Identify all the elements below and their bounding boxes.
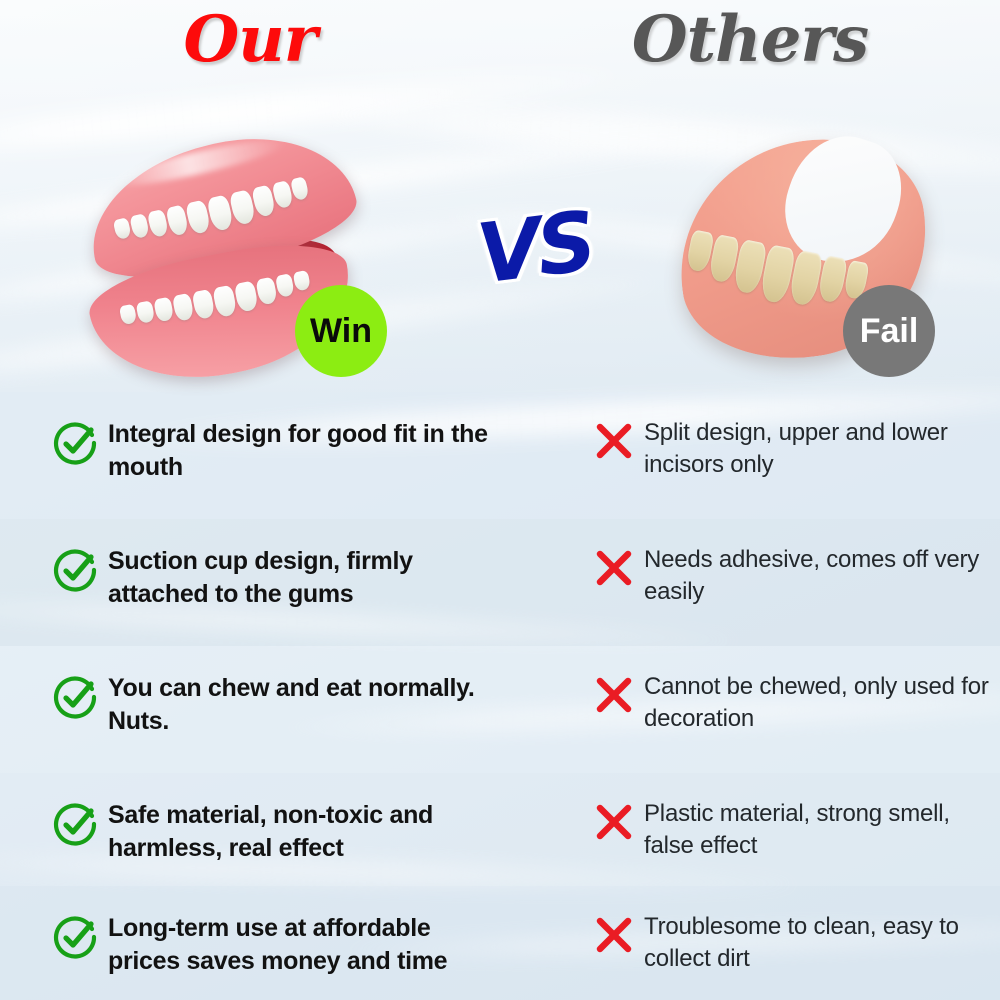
comparison-row: Integral design for good fit in the mout…	[0, 392, 1000, 519]
comparison-row: Safe material, non-toxic and harmless, r…	[0, 773, 1000, 886]
green-check-circle-icon	[52, 674, 98, 720]
green-check-circle-icon	[52, 420, 98, 466]
badge-fail: Fail	[843, 285, 935, 377]
badge-win: Win	[295, 285, 387, 377]
comparison-row: Suction cup design, firmly attached to t…	[0, 519, 1000, 646]
cell-ours: Safe material, non-toxic and harmless, r…	[0, 773, 500, 886]
feature-text-ours: Safe material, non-toxic and harmless, r…	[108, 799, 498, 864]
cell-others: Needs adhesive, comes off very easily	[500, 519, 1000, 646]
feature-text-others: Cannot be chewed, only used for decorati…	[644, 671, 1000, 734]
cell-others: Troublesome to clean, easy to collect di…	[500, 886, 1000, 1000]
cell-others: Split design, upper and lower incisors o…	[500, 392, 1000, 519]
green-check-circle-icon	[52, 547, 98, 593]
feature-text-ours: Long-term use at affordable prices saves…	[108, 912, 498, 977]
feature-text-others: Split design, upper and lower incisors o…	[644, 417, 1000, 480]
cell-ours: Long-term use at affordable prices saves…	[0, 886, 500, 1000]
red-x-icon	[592, 673, 636, 717]
cell-ours: Suction cup design, firmly attached to t…	[0, 519, 500, 646]
red-x-icon	[592, 419, 636, 463]
feature-text-ours: You can chew and eat normally. Nuts.	[108, 672, 498, 737]
green-check-circle-icon	[52, 914, 98, 960]
green-check-circle-icon	[52, 801, 98, 847]
feature-text-others: Troublesome to clean, easy to collect di…	[644, 911, 1000, 974]
cell-ours: You can chew and eat normally. Nuts.	[0, 646, 500, 773]
comparison-row: Long-term use at affordable prices saves…	[0, 886, 1000, 1000]
comparison-row: You can chew and eat normally. Nuts. Can…	[0, 646, 1000, 773]
red-x-icon	[592, 800, 636, 844]
feature-text-ours: Integral design for good fit in the mout…	[108, 418, 498, 483]
feature-text-ours: Suction cup design, firmly attached to t…	[108, 545, 498, 610]
header-others: Others	[500, 2, 1000, 77]
red-x-icon	[592, 913, 636, 957]
versus-label: VS	[464, 190, 605, 305]
feature-text-others: Needs adhesive, comes off very easily	[644, 544, 1000, 607]
cell-ours: Integral design for good fit in the mout…	[0, 392, 500, 519]
cell-others: Plastic material, strong smell, false ef…	[500, 773, 1000, 886]
header-ours: Our	[0, 2, 500, 77]
comparison-rows: Integral design for good fit in the mout…	[0, 392, 1000, 1000]
feature-text-others: Plastic material, strong smell, false ef…	[644, 798, 1000, 861]
comparison-infographic: Our Others	[0, 0, 1000, 1000]
red-x-icon	[592, 546, 636, 590]
cell-others: Cannot be chewed, only used for decorati…	[500, 646, 1000, 773]
